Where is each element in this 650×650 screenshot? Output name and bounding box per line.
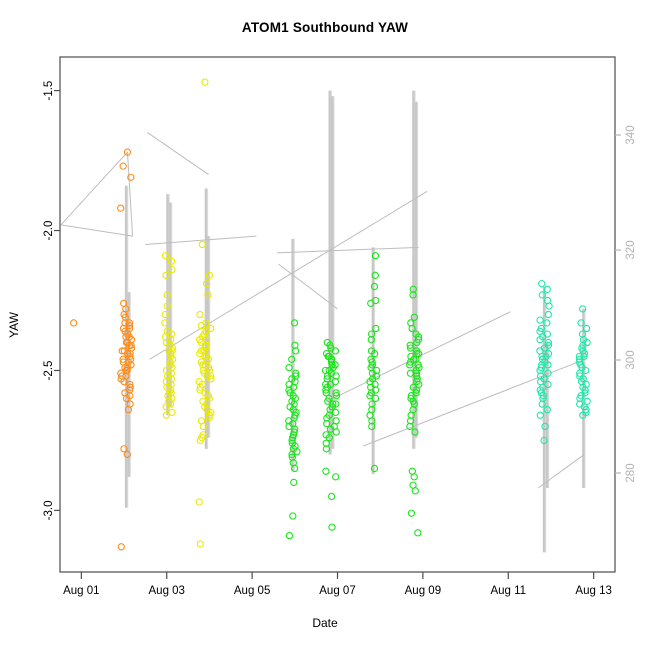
series-group bbox=[71, 320, 77, 326]
data-point bbox=[415, 530, 421, 536]
trend-line bbox=[145, 236, 256, 244]
x-axis-tick-label: Aug 05 bbox=[234, 585, 270, 597]
trend-line bbox=[277, 247, 419, 253]
data-point bbox=[120, 163, 126, 169]
data-point bbox=[537, 317, 543, 323]
y-axis-tick-label: -3.0 bbox=[43, 501, 55, 521]
scatter-plot-canvas: -1.5-2.0-2.5-3.0340320300280Aug 01Aug 03… bbox=[0, 0, 650, 650]
data-point bbox=[71, 320, 77, 326]
data-point bbox=[333, 474, 339, 480]
y-axis-tick-label: -1.5 bbox=[43, 81, 55, 101]
y-axis-tick-label: -2.0 bbox=[43, 221, 55, 241]
data-point bbox=[196, 499, 202, 505]
x-axis-tick-label: Aug 01 bbox=[63, 585, 99, 597]
trend-line bbox=[363, 359, 585, 446]
data-point bbox=[290, 513, 296, 519]
data-point bbox=[286, 365, 292, 371]
data-point bbox=[202, 79, 208, 85]
secondary-axis-tick-label: 300 bbox=[625, 350, 637, 369]
range-bars-layer bbox=[126, 91, 585, 553]
data-point bbox=[412, 488, 418, 494]
secondary-axis-tick-label: 280 bbox=[625, 463, 637, 482]
data-point bbox=[323, 468, 329, 474]
data-point bbox=[546, 303, 552, 309]
series-group bbox=[322, 339, 339, 530]
data-point bbox=[539, 281, 545, 287]
chart-root: ATOM1 Southbound YAW YAW Date -1.5-2.0-2… bbox=[0, 0, 650, 650]
x-axis-tick-label: Aug 07 bbox=[319, 585, 355, 597]
data-point bbox=[118, 544, 124, 550]
x-axis-tick-label: Aug 09 bbox=[405, 585, 441, 597]
x-axis-tick-label: Aug 03 bbox=[149, 585, 185, 597]
secondary-axis-tick-label: 320 bbox=[625, 240, 637, 259]
plot-frame bbox=[60, 57, 615, 572]
trend-line bbox=[148, 133, 209, 175]
data-point bbox=[197, 311, 203, 317]
data-point bbox=[197, 541, 203, 547]
trend-line bbox=[150, 191, 428, 359]
secondary-axis-tick-label: 340 bbox=[625, 125, 637, 144]
data-point bbox=[329, 493, 335, 499]
data-point bbox=[329, 524, 335, 530]
data-point bbox=[199, 241, 205, 247]
data-point bbox=[286, 533, 292, 539]
data-point bbox=[411, 474, 417, 480]
series-group bbox=[286, 320, 300, 539]
data-point bbox=[118, 205, 124, 211]
data-point bbox=[537, 412, 543, 418]
y-axis-tick-label: -2.5 bbox=[43, 361, 55, 381]
data-point bbox=[408, 510, 414, 516]
x-axis-tick-label: Aug 11 bbox=[490, 585, 526, 597]
x-axis-tick-label: Aug 13 bbox=[575, 585, 611, 597]
trend-line bbox=[61, 152, 133, 236]
data-point bbox=[291, 479, 297, 485]
